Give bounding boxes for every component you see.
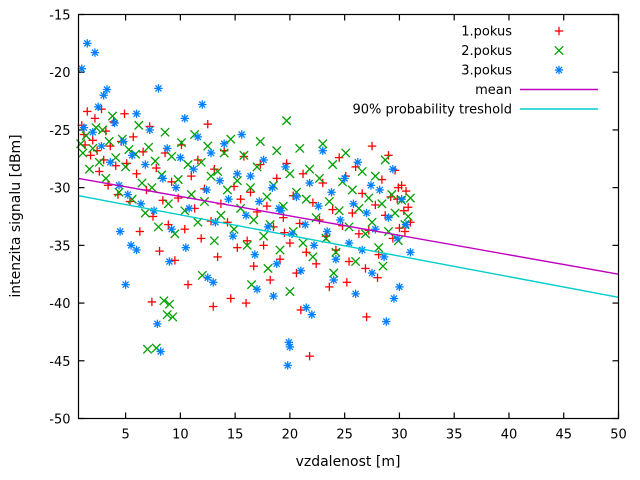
x-tick-label: 45 [555,428,572,443]
y-tick-label: -40 [49,297,70,312]
x-tick-label: 10 [172,428,189,443]
x-tick-label: 25 [336,428,353,443]
scatter-plot: -15-20-25-30-35-40-45-50 510152025303540… [0,0,640,480]
legend-label-4: 90% probability treshold [352,103,512,118]
plot-background [0,0,640,480]
legend-label-0: 1.pokus [461,25,512,40]
x-tick-label: 20 [282,428,299,443]
legend-label-1: 2.pokus [461,44,512,59]
y-axis-title: intenzita signalu [dBm] [8,134,24,297]
x-tick-label: 15 [227,428,244,443]
y-tick-label: -35 [49,239,70,254]
y-tick-label: -15 [49,9,70,24]
y-tick-label: -25 [49,124,70,139]
chart-container: -15-20-25-30-35-40-45-50 510152025303540… [0,0,640,480]
legend-label-2: 3.pokus [461,64,512,79]
legend-label-3: mean [475,83,512,98]
x-tick-label: 5 [121,428,129,443]
x-tick-label: 35 [446,428,463,443]
y-tick-label: -50 [49,413,70,428]
x-axis-title: vzdalenost [m] [296,454,401,470]
x-tick-label: 50 [610,428,627,443]
y-tick-label: -45 [49,355,70,370]
x-tick-label: 30 [391,428,408,443]
y-tick-label: -20 [49,66,70,81]
x-tick-label: 40 [501,428,518,443]
y-tick-label: -30 [49,182,70,197]
